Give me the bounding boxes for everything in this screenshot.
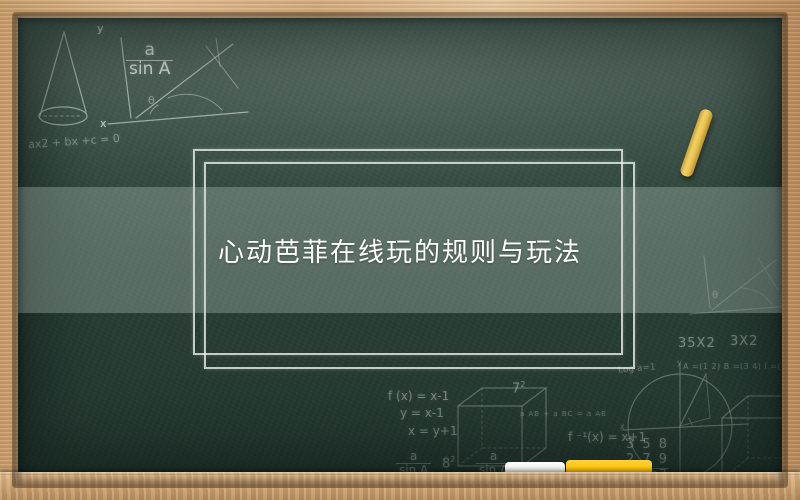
chalk-tray-lip [0,472,800,475]
page-title: 心动芭菲在线玩的规则与玩法 [218,232,582,269]
chalk-tray [0,472,800,500]
title-band: 心动芭菲在线玩的规则与玩法 [18,187,782,313]
blackboard-banner: a sin A y x θ ax2 + bx +c = 0 [0,0,800,500]
chalkboard-surface: a sin A y x θ ax2 + bx +c = 0 [18,18,782,472]
